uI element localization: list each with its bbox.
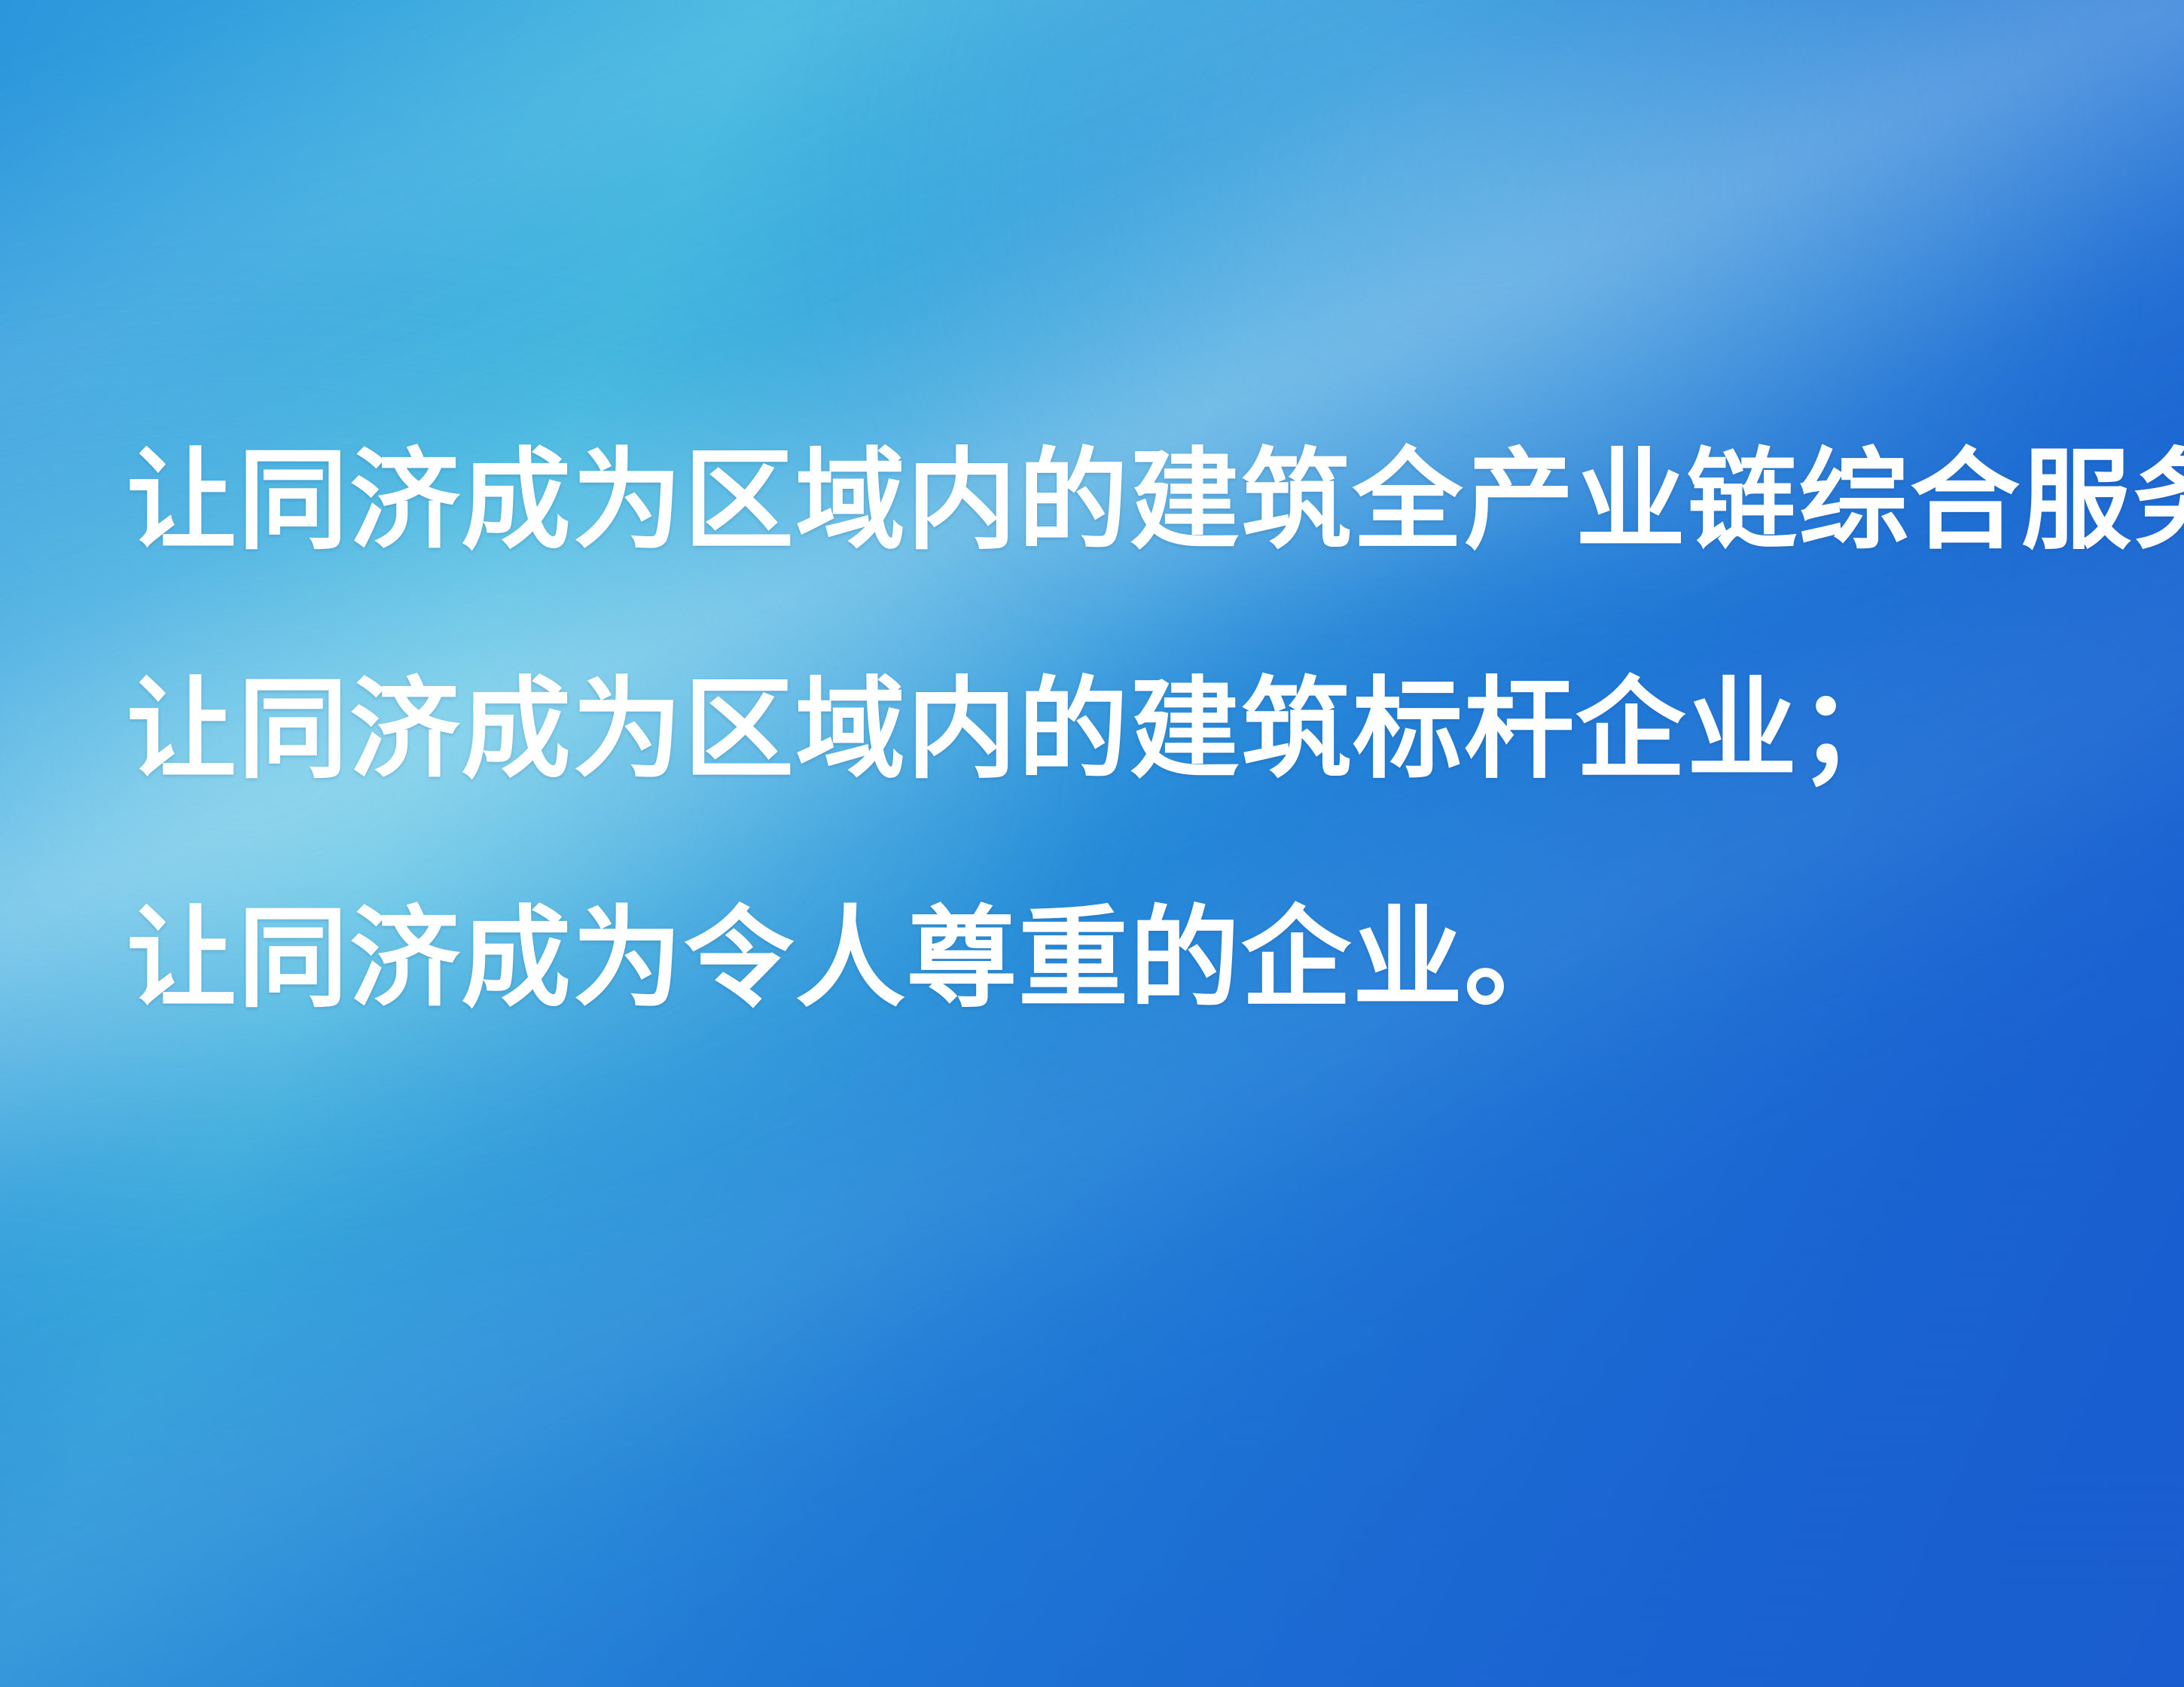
slide-canvas: 让同济成为区域内的建筑全产业链综合服务商； 让同济成为区域内的建筑标杆企业； 让…: [0, 0, 2184, 1687]
slide-line-2: 让同济成为区域内的建筑标杆企业；: [127, 675, 2054, 785]
slide-text-block: 让同济成为区域内的建筑全产业链综合服务商； 让同济成为区域内的建筑标杆企业； 让…: [127, 446, 2054, 1014]
slide-line-3: 让同济成为令人尊重的企业。: [127, 904, 2054, 1014]
slide-line-1: 让同济成为区域内的建筑全产业链综合服务商；: [127, 446, 2054, 556]
